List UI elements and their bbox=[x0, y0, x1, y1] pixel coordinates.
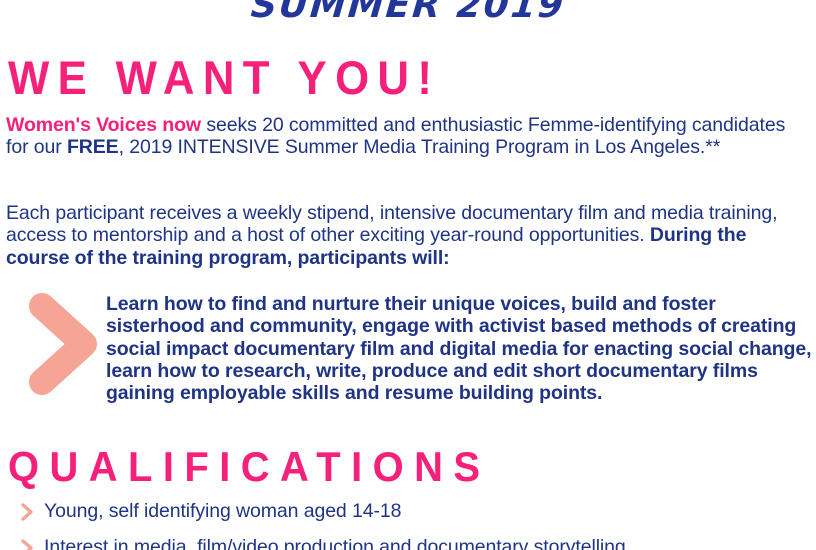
qualification-label: Interest in media, film/video production… bbox=[44, 536, 626, 550]
flyer-page: SUMMER 2019 WE WANT YOU! Women's Voices … bbox=[0, 0, 816, 550]
qualifications-list: Young, self identifying woman aged 14-18… bbox=[20, 500, 810, 550]
qualification-label: Young, self identifying woman aged 14-18 bbox=[44, 500, 401, 522]
chevron-right-icon bbox=[20, 502, 34, 522]
organization-name: Women's Voices now bbox=[6, 114, 201, 136]
highlight-block: Learn how to find and nurture their uniq… bbox=[6, 289, 812, 429]
season-title: SUMMER 2019 bbox=[0, 0, 816, 26]
highlight-body: Learn how to find and nurture their uniq… bbox=[106, 293, 816, 404]
intro-text-second: , 2019 INTENSIVE Summer Media Training P… bbox=[119, 136, 721, 158]
list-item: Young, self identifying woman aged 14-18 bbox=[20, 500, 810, 524]
intro-paragraph: Women's Voices now seeks 20 committed an… bbox=[6, 114, 812, 159]
qualifications-heading: QUALIFICATIONS bbox=[8, 443, 490, 491]
chevron-right-icon bbox=[28, 292, 98, 396]
page-title: WE WANT YOU! bbox=[8, 52, 440, 104]
list-item: Interest in media, film/video production… bbox=[20, 536, 810, 550]
chevron-right-icon bbox=[20, 538, 34, 550]
stipend-paragraph: Each participant receives a weekly stipe… bbox=[6, 202, 812, 269]
free-label: FREE bbox=[67, 136, 119, 158]
